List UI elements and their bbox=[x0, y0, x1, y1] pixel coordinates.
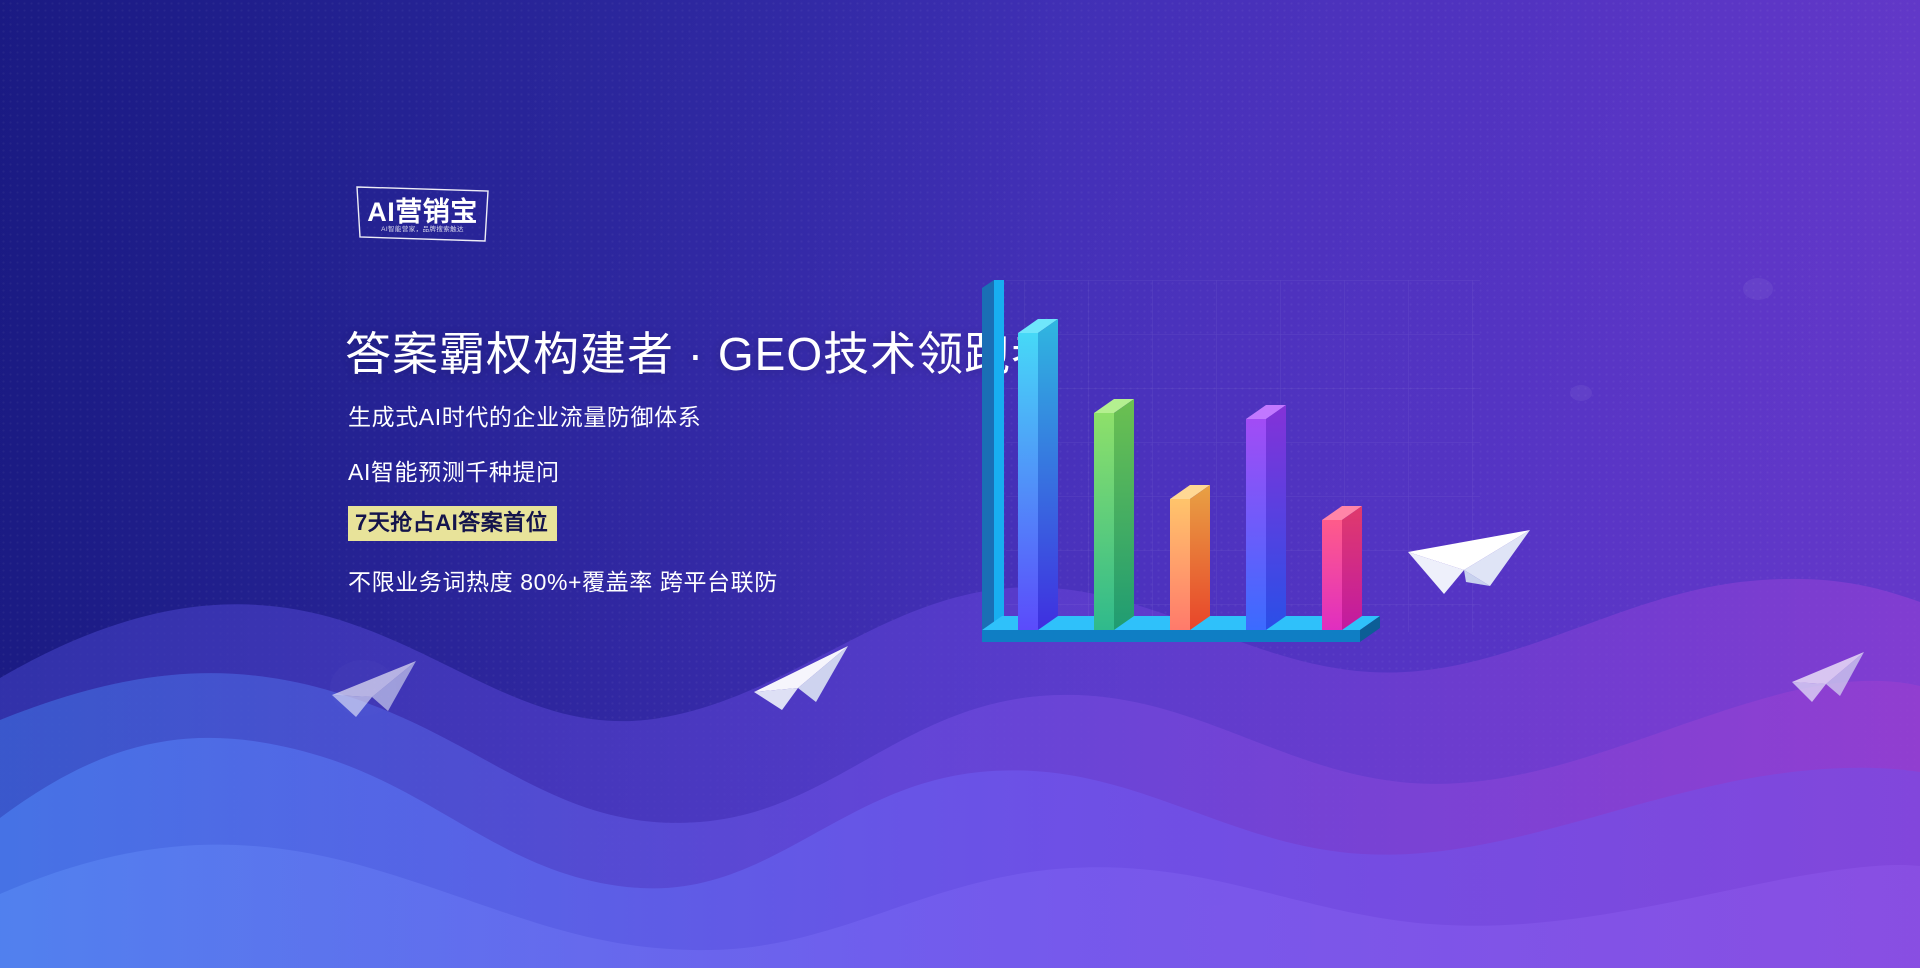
chart-bar-4 bbox=[1246, 405, 1286, 630]
decorative-circle bbox=[1743, 278, 1773, 300]
chart-bar-2 bbox=[1094, 399, 1134, 630]
bar-chart-illustration bbox=[960, 280, 1480, 680]
wave-front bbox=[0, 738, 1920, 968]
wave-mid bbox=[0, 673, 1920, 968]
chart-bar-5 bbox=[1322, 506, 1362, 630]
subtitle-line-1: 生成式AI时代的企业流量防御体系 bbox=[348, 398, 701, 432]
chart-bar-1 bbox=[1018, 319, 1058, 630]
wave-foreground bbox=[0, 845, 1920, 968]
decorative-circle bbox=[1180, 905, 1270, 965]
decorative-circle bbox=[330, 660, 396, 716]
brand-logo[interactable]: AI营销宝 AI智能营家，品牌搜索触达 bbox=[355, 185, 490, 243]
highlight-badge: 7天抢占AI答案首位 bbox=[348, 506, 557, 541]
subtitle-line-4: 不限业务词热度 80%+覆盖率 跨平台联防 bbox=[348, 563, 778, 597]
subtitle-line-2: AI智能预测千种提问 bbox=[348, 453, 560, 487]
page-title: 答案霸权构建者 · GEO技术领跑者 bbox=[345, 318, 1058, 384]
logo-tagline: AI智能营家，品牌搜索触达 bbox=[381, 223, 464, 233]
chart-y-axis bbox=[982, 280, 1004, 632]
paper-plane-icon bbox=[752, 640, 852, 718]
decorative-circle bbox=[1570, 385, 1592, 401]
paper-plane-icon bbox=[330, 655, 420, 725]
chart-bar-3 bbox=[1170, 485, 1210, 630]
paper-plane-icon bbox=[1790, 648, 1868, 710]
hero-banner: AI营销宝 AI智能营家，品牌搜索触达 答案霸权构建者 · GEO技术领跑者 生… bbox=[0, 0, 1920, 968]
chart-gridlines bbox=[1006, 280, 1480, 632]
